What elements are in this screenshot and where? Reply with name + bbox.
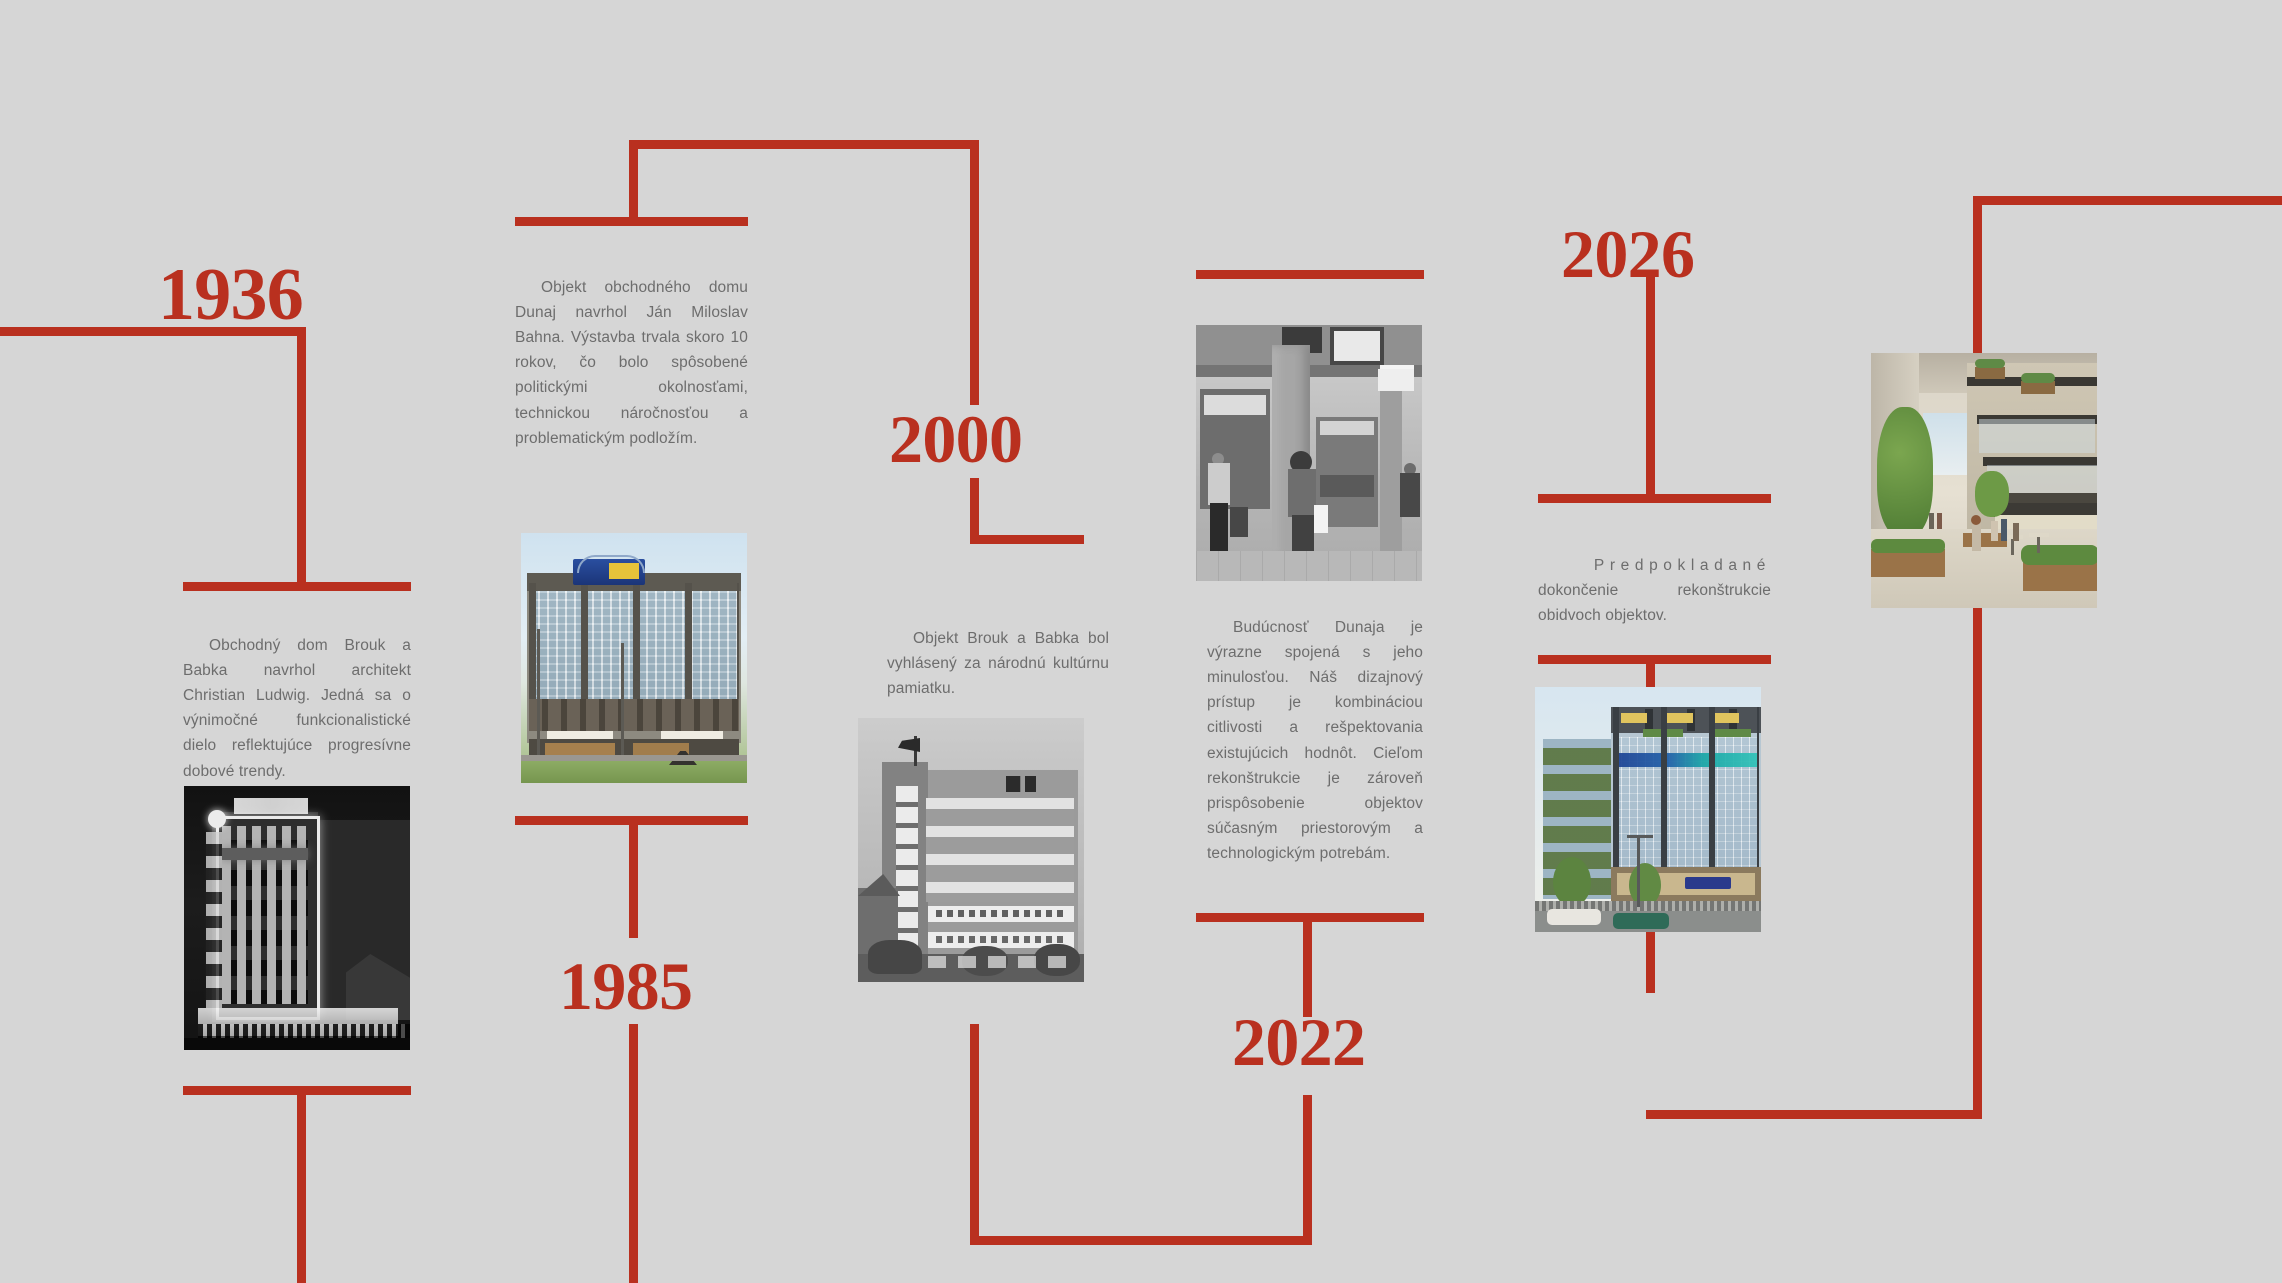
timeline-line-v-1936 — [297, 327, 306, 587]
year-label-1936: 1936 — [158, 258, 303, 332]
timeline-line-h-2026-bottom — [1646, 1110, 1982, 1119]
timeline-line-h-1985-top — [515, 217, 748, 226]
timeline-line-v-1985-top — [629, 140, 638, 222]
timeline-line-h-1936-bottom — [183, 582, 411, 591]
timeline-line-h-2026-far — [1973, 196, 2282, 205]
description-1936: Obchodný dom Brouk a Babka navrhol archi… — [183, 633, 411, 784]
description-2026: Predpokladané dokončenie rekonštrukcie o… — [1538, 553, 1771, 628]
description-2026-body: dokončenie rekonštrukcie obidvoch objekt… — [1538, 578, 1771, 628]
timeline-line-v-2000-bottom — [970, 1024, 979, 1245]
year-label-1985: 1985 — [559, 952, 692, 1020]
description-2000: Objekt Brouk a Babka bol vyhlásený za ná… — [887, 626, 1109, 701]
photo-1936-night-facade — [184, 786, 410, 1050]
timeline-line-v-2026-bottom — [1973, 196, 1982, 1119]
photo-2022-street-arcade — [1196, 325, 1422, 581]
description-2026-lead: Predpokladané — [1538, 553, 1771, 578]
timeline-line-h-1985-hook — [629, 140, 979, 149]
timeline-line-h-2026-top — [1538, 494, 1771, 503]
description-2022: Budúcnosť Dunaja je výrazne spojená s je… — [1207, 615, 1423, 866]
timeline-line-v-2022-bottom — [1303, 1095, 1312, 1245]
photo-1985-dunaj-facade — [521, 533, 747, 783]
timeline-line-h-2000-bottom — [970, 1236, 1303, 1245]
timeline-line-v-1936-foot — [297, 1086, 306, 1283]
year-label-2022: 2022 — [1232, 1008, 1365, 1076]
timeline-line-v-1985-bottom — [629, 1024, 638, 1283]
photo-2026-passage-render — [1871, 353, 2097, 608]
timeline-line-v-2022 — [1303, 913, 1312, 1017]
timeline-canvas: 1936 1985 2000 2022 2026 Obchodný dom Br… — [0, 0, 2282, 1283]
timeline-line-v-2000-top — [970, 141, 979, 405]
timeline-line-v-2000 — [970, 478, 979, 544]
year-label-2000: 2000 — [889, 405, 1022, 473]
year-label-2026: 2026 — [1561, 220, 1694, 288]
timeline-line-h-2022-top — [1196, 270, 1424, 279]
photo-2026-facade-render — [1535, 687, 1761, 932]
description-1985: Objekt obchodného domu Dunaj navrhol Ján… — [515, 275, 748, 451]
photo-2000-brouk-a-babka — [858, 718, 1084, 982]
timeline-line-v-2026-top — [1646, 272, 1655, 494]
timeline-line-h-2000-top — [970, 535, 1084, 544]
timeline-line-v-1985 — [629, 816, 638, 938]
